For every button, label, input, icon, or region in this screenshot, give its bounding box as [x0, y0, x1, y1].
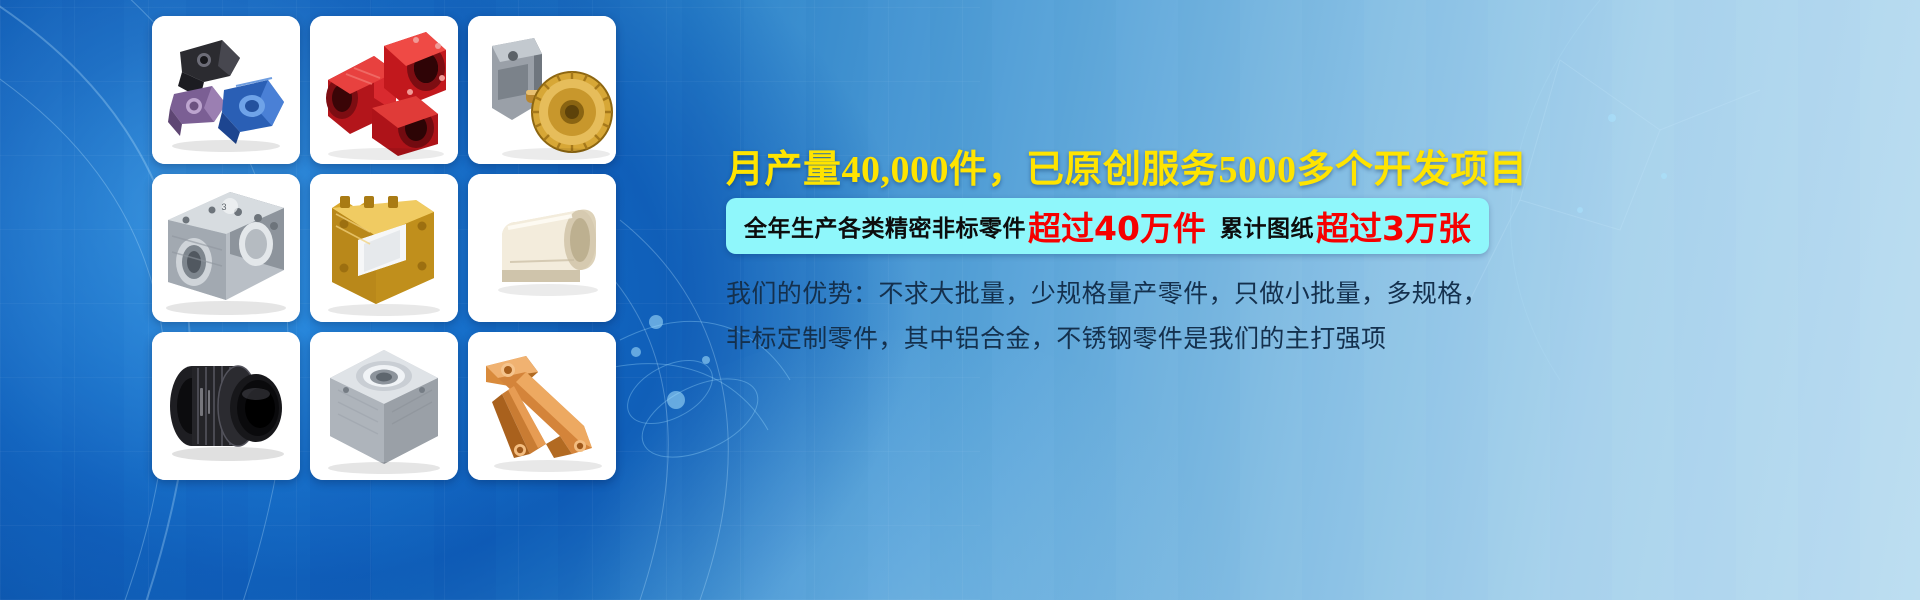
brass-worm-gear-shaft-icon	[468, 16, 616, 164]
strip-text-1: 全年生产各类精密非标零件	[744, 209, 1026, 243]
black-finned-housing-icon	[152, 332, 300, 480]
red-anodized-cylinders-icon	[310, 16, 458, 164]
strip-emphasis-2: 超过3万张	[1316, 202, 1471, 250]
paragraph-line-1: 我们的优势：不求大批量，少规格量产零件，只做小批量，多规格，	[726, 272, 1816, 317]
white-plastic-tube-part-icon	[468, 174, 616, 322]
banner-content: 月产量40,000件，已原创服务5000多个开发项目 全年生产各类精密非标零件 …	[718, 0, 1878, 600]
gallery-card-part-2[interactable]	[310, 16, 458, 164]
gallery-card-part-1[interactable]	[152, 16, 300, 164]
strip-text-2: 累计图纸	[1220, 209, 1314, 243]
svg-text:3: 3	[221, 202, 226, 212]
gallery-card-part-7[interactable]	[152, 332, 300, 480]
banner-paragraph: 我们的优势：不求大批量，少规格量产零件，只做小批量，多规格， 非标定制零件，其中…	[726, 272, 1816, 362]
highlight-strip: 全年生产各类精密非标零件 超过40万件 累计图纸 超过3万张	[726, 198, 1489, 254]
gallery-card-part-4[interactable]: 3	[152, 174, 300, 322]
banner-headline: 月产量40,000件，已原创服务5000多个开发项目	[726, 138, 1876, 193]
gallery-card-part-9[interactable]	[468, 332, 616, 480]
strip-emphasis-1: 超过40万件	[1028, 202, 1206, 250]
gallery-card-part-5[interactable]	[310, 174, 458, 322]
promo-banner: 3	[0, 0, 1920, 600]
aluminum-gearbox-housing-icon: 3	[152, 174, 300, 322]
gallery-card-part-3[interactable]	[468, 16, 616, 164]
aluminum-cube-block-icon	[310, 332, 458, 480]
gold-anodized-frame-plate-icon	[310, 174, 458, 322]
gallery-card-part-6[interactable]	[468, 174, 616, 322]
anodized-aluminum-brackets-icon	[152, 16, 300, 164]
gallery-card-part-8[interactable]	[310, 332, 458, 480]
copper-forked-bracket-icon	[468, 332, 616, 480]
paragraph-line-2: 非标定制零件，其中铝合金，不锈钢零件是我们的主打强项	[726, 317, 1816, 362]
product-gallery: 3	[152, 16, 616, 484]
